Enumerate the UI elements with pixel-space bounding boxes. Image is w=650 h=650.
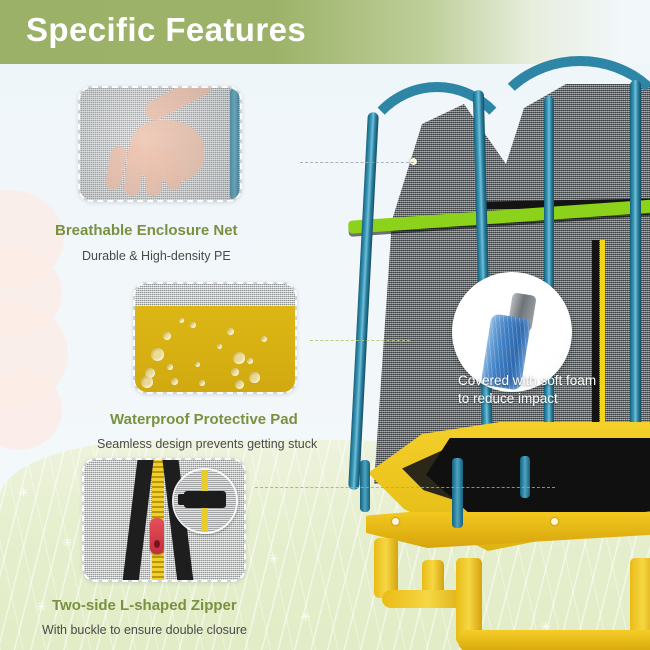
callout-text-block: Covered with soft foam to reduce impact xyxy=(458,372,596,408)
water-droplet-icon xyxy=(167,364,173,370)
water-droplet-icon xyxy=(179,318,184,323)
water-droplet-icon xyxy=(233,352,245,364)
water-droplet-icon xyxy=(163,332,171,340)
frame-rim xyxy=(366,512,650,548)
water-droplet-icon xyxy=(195,362,200,367)
zipper-pull-icon xyxy=(150,518,164,554)
feature-title-3: Two-side L-shaped Zipper xyxy=(52,597,237,614)
header-banner: Specific Features xyxy=(0,0,650,64)
water-droplet-icon xyxy=(231,368,239,376)
feature-image-waterproof-protective-pad xyxy=(133,282,297,394)
callout-anchor-dot xyxy=(551,518,558,525)
connector-line-pad xyxy=(310,340,410,341)
net-zipper-line xyxy=(600,240,605,440)
feature-subtitle-3: With buckle to ensure double closure xyxy=(42,623,247,637)
feature-title-1: Breathable Enclosure Net xyxy=(55,222,238,239)
buckle-icon xyxy=(184,491,226,508)
water-droplet-icon xyxy=(199,380,205,386)
page-title: Specific Features xyxy=(26,11,306,49)
water-droplet-icon xyxy=(171,378,178,385)
water-droplet-icon xyxy=(247,358,253,364)
trampoline-leg xyxy=(374,538,398,598)
buckle-detail-inset xyxy=(172,468,238,534)
callout-line-1: Covered with soft foam xyxy=(458,372,596,390)
pole-base xyxy=(360,460,370,512)
water-droplet-icon xyxy=(227,328,234,335)
connector-line-zipper xyxy=(255,487,555,488)
water-droplet-icon xyxy=(249,372,260,383)
feature-image-two-side-l-shaped-zipper xyxy=(82,458,246,582)
trampoline-leg xyxy=(458,630,650,650)
callout-anchor-dot xyxy=(392,518,399,525)
mesh-strip-icon xyxy=(135,284,295,306)
water-droplet-icon xyxy=(217,344,222,349)
water-droplet-icon xyxy=(151,348,164,361)
feature-infographic: ✳ ✳ ✳ ✳ ✳ ✳ ✳ ✳ ✳ ✳ Specific Features xyxy=(0,0,650,650)
pole-base xyxy=(520,456,530,498)
water-droplet-icon xyxy=(235,380,244,389)
feature-subtitle-1: Durable & High-density PE xyxy=(82,249,231,263)
water-droplet-icon xyxy=(141,376,153,388)
feature-image-breathable-enclosure-net xyxy=(78,86,242,202)
yellow-pad-surface xyxy=(135,306,295,392)
water-droplet-icon xyxy=(261,336,267,342)
callout-line-2: to reduce impact xyxy=(458,390,596,408)
connector-line-net xyxy=(300,162,414,163)
feature-subtitle-2: Seamless design prevents getting stuck xyxy=(97,437,317,451)
feature-title-2: Waterproof Protective Pad xyxy=(110,411,298,428)
mesh-overlay xyxy=(80,88,240,200)
water-droplet-icon xyxy=(190,322,196,328)
pole-base xyxy=(452,458,463,528)
